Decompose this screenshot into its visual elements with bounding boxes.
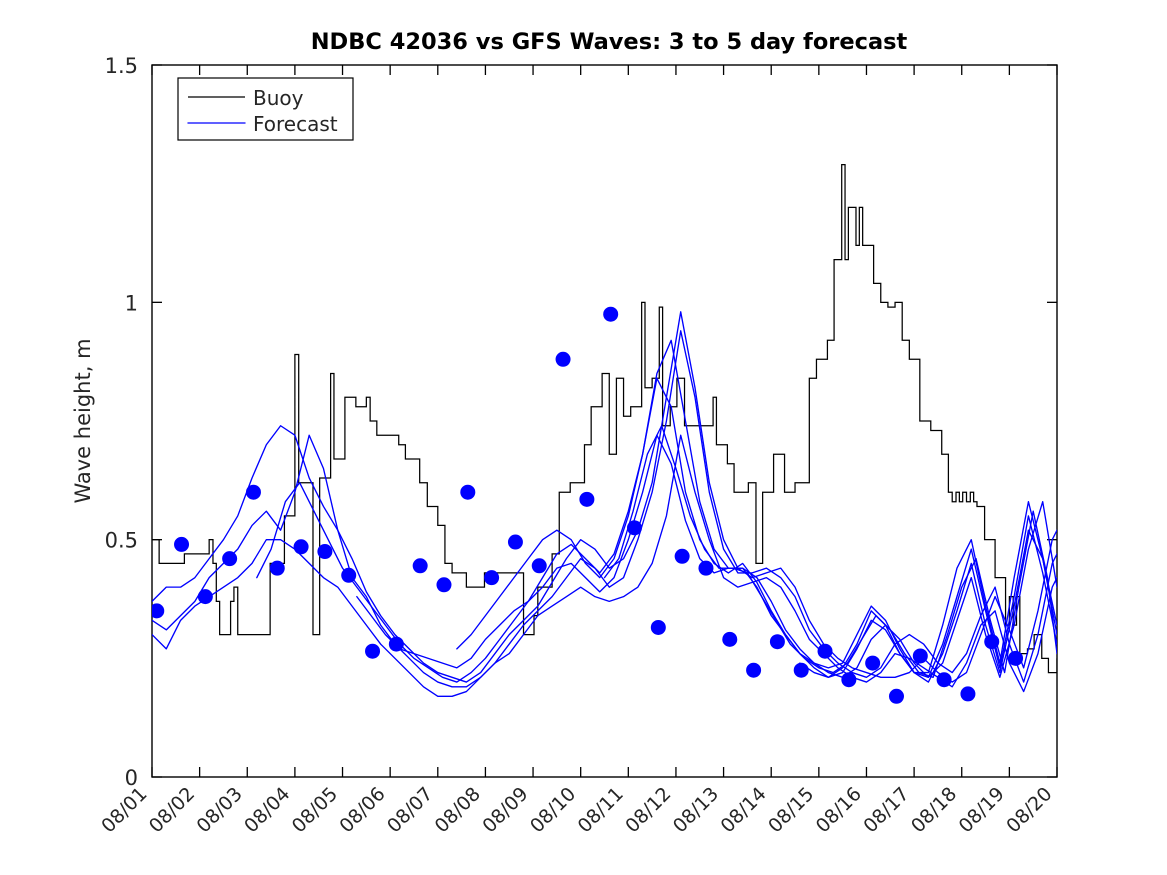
x-tick-label: 08/07 [383, 783, 437, 837]
forecast-marker-dot [460, 485, 475, 500]
chart-figure: NDBC 42036 vs GFS Waves: 3 to 5 day fore… [0, 0, 1167, 875]
forecast-marker-dot [317, 544, 332, 559]
forecast-marker-dot [746, 663, 761, 678]
forecast-marker-dot [270, 561, 285, 576]
x-tick-label: 08/01 [97, 783, 151, 837]
x-tick-label: 08/03 [193, 783, 247, 837]
forecast-marker-dot [651, 620, 666, 635]
forecast-line-1 [152, 312, 1057, 682]
y-tick-label: 1 [125, 291, 138, 315]
forecast-marker-dot [698, 561, 713, 576]
forecast-marker-dot [246, 485, 261, 500]
x-tick-label: 08/13 [669, 783, 723, 837]
chart-title: NDBC 42036 vs GFS Waves: 3 to 5 day fore… [311, 29, 908, 55]
x-axis-ticks: 08/0108/0208/0308/0408/0508/0608/0708/08… [97, 65, 1057, 837]
forecast-marker-dot [913, 648, 928, 663]
x-tick-label: 08/17 [859, 783, 913, 837]
forecast-marker-dot [198, 589, 213, 604]
forecast-marker-points [149, 307, 1023, 704]
legend-label-forecast: Forecast [253, 112, 338, 136]
forecast-marker-dot [889, 689, 904, 704]
x-tick-label: 08/16 [812, 783, 866, 837]
forecast-marker-dot [1008, 651, 1023, 666]
x-tick-label: 08/12 [621, 783, 675, 837]
x-tick-label: 08/14 [716, 783, 770, 837]
forecast-marker-dot [770, 634, 785, 649]
forecast-marker-dot [841, 672, 856, 687]
forecast-line-6 [457, 378, 1057, 677]
y-axis-label: Wave height, m [71, 338, 95, 503]
x-tick-label: 08/10 [526, 783, 580, 837]
x-tick-label: 08/18 [907, 783, 961, 837]
x-tick-label: 08/04 [240, 783, 294, 837]
forecast-marker-dot [484, 570, 499, 585]
forecast-marker-dot [818, 644, 833, 659]
forecast-marker-dot [794, 663, 809, 678]
forecast-marker-dot [365, 644, 380, 659]
forecast-marker-dot [675, 549, 690, 564]
forecast-marker-dot [389, 637, 404, 652]
x-tick-label: 08/08 [431, 783, 485, 837]
forecast-marker-dot [341, 568, 356, 583]
forecast-line-2 [152, 331, 1057, 687]
x-tick-label: 08/20 [1002, 783, 1056, 837]
x-tick-label: 08/11 [574, 783, 628, 837]
wave-height-chart: NDBC 42036 vs GFS Waves: 3 to 5 day fore… [0, 0, 1167, 875]
y-tick-label: 0.5 [105, 529, 138, 553]
legend-label-buoy: Buoy [253, 86, 304, 110]
x-tick-label: 08/15 [764, 783, 818, 837]
forecast-marker-dot [508, 535, 523, 550]
forecast-marker-dot [532, 558, 547, 573]
forecast-marker-dot [413, 558, 428, 573]
series-buoy [152, 165, 1057, 673]
forecast-marker-dot [579, 492, 594, 507]
forecast-marker-dot [222, 551, 237, 566]
forecast-marker-dot [984, 634, 999, 649]
x-tick-label: 08/09 [478, 783, 532, 837]
x-tick-label: 08/06 [335, 783, 389, 837]
buoy-line [152, 165, 1057, 673]
x-tick-label: 08/19 [955, 783, 1009, 837]
forecast-marker-dot [865, 656, 880, 671]
forecast-marker-dot [722, 632, 737, 647]
x-tick-label: 08/05 [288, 783, 342, 837]
x-tick-label: 08/02 [145, 783, 199, 837]
forecast-marker-dot [436, 577, 451, 592]
forecast-marker-dot [627, 520, 642, 535]
y-axis-ticks: 00.511.5 [105, 54, 1057, 790]
forecast-marker-dot [937, 672, 952, 687]
series-forecast [152, 312, 1057, 696]
chart-legend[interactable]: Buoy Forecast [178, 78, 353, 140]
y-tick-label: 1.5 [105, 54, 138, 78]
forecast-marker-dot [603, 307, 618, 322]
forecast-marker-dot [174, 537, 189, 552]
forecast-marker-dot [556, 352, 571, 367]
forecast-marker-dot [294, 539, 309, 554]
forecast-marker-dot [960, 686, 975, 701]
